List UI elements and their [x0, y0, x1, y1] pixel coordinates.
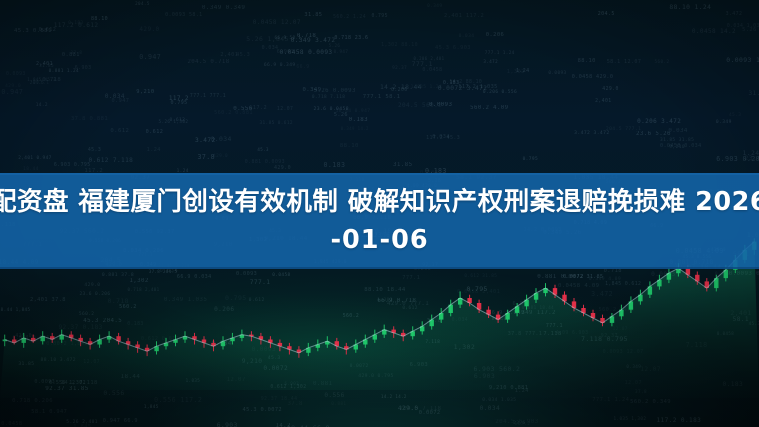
- background-data-token: 0.795: [371, 14, 387, 19]
- background-data-token: 2,401 0.947: [18, 156, 51, 161]
- background-data-token: 1.035 1,302: [613, 417, 646, 422]
- background-data-token: 88.10: [578, 58, 596, 64]
- background-data-token: 777.1 1.24: [485, 51, 515, 56]
- background-data-token: 3.472: [483, 59, 498, 64]
- background-data-token: 2,401 117.2: [444, 13, 484, 19]
- background-data-token: 0.0093: [6, 72, 26, 77]
- background-data-token: 0.0458 0.0093: [280, 49, 333, 56]
- background-data-token: 0.206 0.556: [483, 90, 517, 95]
- background-data-token: 0.206 3.472: [637, 118, 681, 125]
- background-data-token: 1.24: [743, 149, 759, 157]
- background-data-token: 31.85: [304, 12, 322, 18]
- background-data-token: 5.26: [742, 27, 757, 33]
- background-data-token: 204.5 7.118: [399, 406, 441, 412]
- background-data-token: 0.206: [486, 32, 505, 38]
- background-data-token: 0.034: [668, 128, 687, 134]
- background-data-token: 117.2 45.3: [426, 135, 460, 141]
- background-data-token: 0.947: [334, 49, 349, 54]
- background-data-token: 18.44: [23, 167, 39, 172]
- background-data-token: 1.035 1.24: [411, 85, 443, 90]
- background-data-token: 66.9: [296, 65, 309, 70]
- background-data-token: 0.206 2,401: [413, 56, 444, 61]
- background-data-token: 23.6 0.0458: [314, 107, 349, 112]
- background-data-token: 0.718: [42, 77, 61, 83]
- background-data-token: 66.9 58.1: [275, 36, 302, 41]
- banner-image: 3.472 3.47258.1429.0117.223.60.0458 4.09…: [0, 0, 759, 427]
- background-data-token: 88.10: [340, 143, 359, 149]
- background-data-token: 0.947: [111, 98, 129, 104]
- background-data-token: 0.183: [349, 117, 368, 123]
- background-data-token: 3.472: [195, 137, 216, 144]
- background-data-token: 66.9 0.349: [264, 63, 296, 68]
- background-data-token: 560.2 0.881: [214, 110, 253, 116]
- background-data-token: 45.3 0.881: [14, 28, 52, 34]
- headline-band: 配资盘 福建厦门创设有效机制 破解知识产权刑案退赔挽损难 2026 -01-06: [0, 173, 759, 269]
- background-data-token: 37.8: [287, 401, 302, 407]
- background-data-token: 92.37: [392, 66, 407, 71]
- background-data-token: 0.034: [480, 405, 500, 412]
- background-data-token: 429.0: [213, 154, 228, 159]
- background-data-token: 0.0458 429.0: [572, 74, 614, 80]
- background-data-token: 0.718 23.6: [334, 35, 368, 41]
- background-data-token: 58.1 0.947: [31, 409, 67, 415]
- background-data-token: 204.5 6.903: [495, 419, 538, 425]
- background-data-token: 3.472 3.472: [574, 131, 609, 136]
- band-bottom-edge: [0, 267, 759, 269]
- background-data-token: 0.795: [523, 157, 539, 162]
- background-data-token: 429.0: [602, 87, 618, 92]
- background-data-token: 777.1 58.1: [363, 94, 401, 100]
- background-data-token: 31.85: [393, 162, 412, 168]
- background-data-token: 0.349: [303, 87, 322, 93]
- background-data-token: 37.8: [198, 153, 215, 161]
- background-data-token: 0.349 0.349: [202, 5, 245, 11]
- background-data-token: 0.947: [139, 53, 161, 61]
- background-data-token: 0.0093: [429, 102, 452, 108]
- background-data-token: 37.8 0.881: [71, 116, 108, 122]
- background-data-token: 0.0093 58.1: [165, 12, 203, 18]
- background-data-token: 6.903: [217, 422, 238, 427]
- background-data-token: 0.0458 0.034: [660, 143, 702, 149]
- background-data-token: 0.612: [146, 129, 164, 135]
- background-data-token: 0.718 7.118: [312, 95, 345, 100]
- background-data-token: 45.3: [88, 147, 101, 153]
- background-data-token: 560.2 4.09: [470, 105, 508, 111]
- background-data-token: 0.0093: [548, 71, 566, 76]
- background-data-token: 31.85: [39, 64, 54, 69]
- background-data-token: 0.947 66.9: [103, 418, 138, 424]
- background-data-token: 12.07: [277, 107, 293, 112]
- background-data-token: 45.3: [729, 113, 741, 118]
- background-data-token: 88.10: [91, 16, 108, 22]
- background-data-token: 88.10 1.24: [669, 4, 711, 11]
- background-data-token: 777.1 777.1: [190, 94, 226, 99]
- background-data-token: 0.0458 12.07: [253, 19, 301, 26]
- background-data-token: 0.349 14.2: [341, 126, 369, 131]
- background-data-token: 0.0458 14.2: [692, 28, 736, 35]
- background-data-token: 429.0: [139, 26, 159, 33]
- background-data-token: 37.8: [71, 50, 83, 55]
- background-data-token: 777.1 1.24: [592, 397, 629, 403]
- background-data-token: 429.0: [274, 165, 291, 171]
- background-data-token: 0.612: [110, 128, 129, 134]
- background-data-token: 1.24: [147, 147, 161, 153]
- background-data-token: 0.183: [323, 161, 345, 169]
- background-data-token: 0.349: [716, 120, 732, 125]
- background-data-token: 14.2: [36, 103, 48, 108]
- background-data-token: 2,401: [595, 99, 611, 104]
- background-data-token: 0.0458: [422, 67, 442, 73]
- background-data-token: 0.947: [1, 88, 23, 96]
- background-data-token: 31.85 0.612: [259, 121, 292, 126]
- background-data-token: 1.24: [516, 68, 530, 74]
- background-data-token: 3.472: [726, 11, 743, 17]
- background-data-token: 23.6 5.26: [636, 131, 671, 137]
- background-data-token: 204.5: [598, 11, 615, 17]
- page-title: 配资盘 福建厦门创设有效机制 破解知识产权刑案退赔挽损难 2026 -01-06: [0, 183, 759, 259]
- background-data-token: 0.0093 1,302: [726, 56, 759, 64]
- background-data-token: 45.3 6.903: [435, 45, 471, 51]
- headline-line-1: 配资盘 福建厦门创设有效机制 破解知识产权刑案退赔挽损难 2026: [0, 187, 759, 217]
- background-data-token: 560.2: [655, 60, 670, 65]
- background-data-token: 0.612: [170, 118, 186, 123]
- background-data-token: 0.183: [68, 21, 83, 26]
- background-data-token: 6.903: [75, 65, 92, 71]
- background-data-token: 0.034: [459, 34, 475, 39]
- background-data-token: 9,210: [136, 89, 154, 95]
- background-data-token: 45.3: [257, 147, 268, 152]
- background-data-token: 204.5: [135, 1, 150, 6]
- background-data-token: 0.0458: [1, 421, 22, 427]
- background-data-token: 5.26 2,401: [66, 420, 98, 425]
- background-data-token: 0.881 0.0093: [245, 159, 285, 165]
- background-data-token: 0.034: [262, 45, 279, 51]
- background-data-token: 0.349: [427, 4, 442, 9]
- background-data-token: 0.034 1.035: [482, 398, 516, 403]
- headline-line-2: -01-06: [0, 221, 759, 259]
- background-data-token: 204.5 0.718: [187, 59, 229, 65]
- background-data-token: 560.2 1.24: [333, 15, 366, 20]
- background-data-token: 31.85: [749, 90, 759, 97]
- background-data-token: 6.903 0.795: [54, 162, 91, 168]
- background-data-token: 560.2 0.349: [630, 399, 671, 405]
- background-data-token: 117.2: [169, 95, 189, 102]
- background-data-token: 0.718 0.206: [12, 398, 53, 404]
- background-data-token: 45.3 0.0072: [243, 407, 282, 413]
- background-data-token: 0.881: [331, 402, 346, 407]
- background-data-token: 45.3: [236, 52, 250, 58]
- background-data-token: 117.2 0.183: [656, 417, 701, 424]
- background-data-token: 58.1 12.07: [607, 59, 642, 65]
- background-data-token: 0.612 7.118: [88, 157, 133, 164]
- background-data-token: 1,845: [144, 405, 159, 410]
- background-data-token: 1,302 88.10: [381, 42, 418, 48]
